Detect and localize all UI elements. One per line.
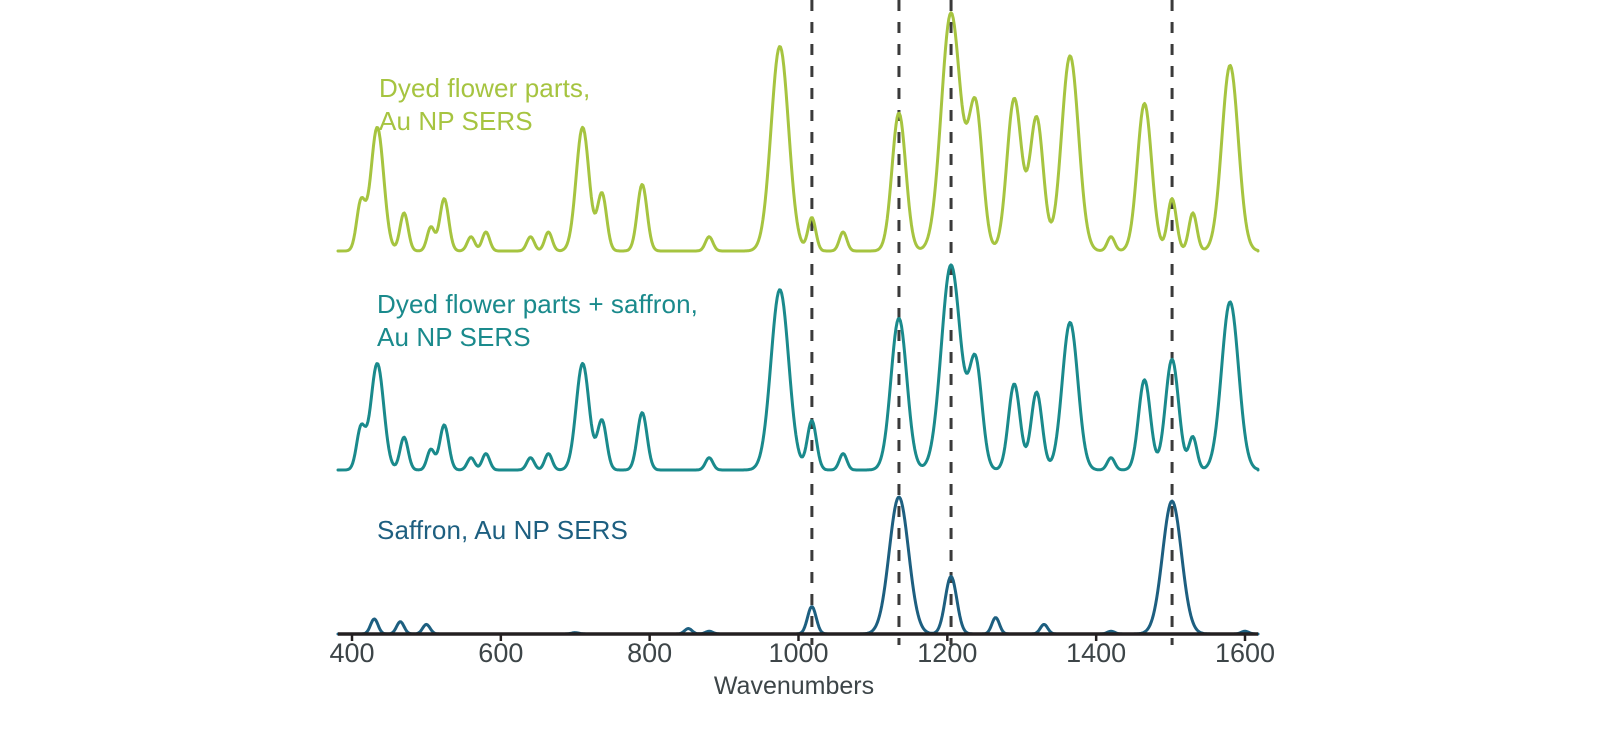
series-label-dyed-flower-parts: Dyed flower parts, Au NP SERS <box>379 72 590 139</box>
x-tick-label-1600: 1600 <box>1215 638 1275 669</box>
spectra-plot-canvas <box>0 0 1600 737</box>
x-tick-label-1400: 1400 <box>1066 638 1126 669</box>
x-tick-label-800: 800 <box>627 638 672 669</box>
sers-spectra-figure: Dyed flower parts, Au NP SERS Dyed flowe… <box>0 0 1600 737</box>
x-tick-label-1200: 1200 <box>917 638 977 669</box>
x-tick-label-1000: 1000 <box>768 638 828 669</box>
x-axis-title: Wavenumbers <box>0 672 1600 701</box>
x-tick-label-400: 400 <box>329 638 374 669</box>
x-tick-label-600: 600 <box>478 638 523 669</box>
series-label-saffron: Saffron, Au NP SERS <box>377 514 628 547</box>
marker-lines-group <box>812 0 1172 645</box>
series-label-dyed-flower-parts-saffron: Dyed flower parts + saffron, Au NP SERS <box>377 288 698 355</box>
x-axis-title-text: Wavenumbers <box>714 672 874 700</box>
